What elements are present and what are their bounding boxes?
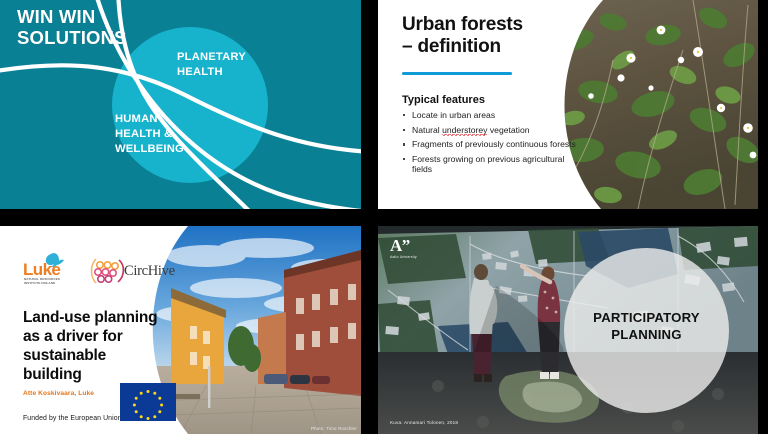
funding-statement: Funded by the European Union [23,415,122,422]
slide4-heading-line1: PARTICIPATORY [564,310,729,327]
circhive-logo: CircHive [88,256,183,286]
slide2-title: Urban forests – definition [402,14,582,59]
typical-features-list: Locate in urban areas Natural understore… [402,110,577,179]
slide3-author: Atte Koskivaara, Luke [23,390,94,397]
list-item: Natural understorey vegetation [402,125,577,135]
slide2-title-line2: – definition [402,36,582,58]
slide-win-win-solutions[interactable]: WIN WIN SOLUTIONS PLANETARY HEALTH HUMAN… [0,0,361,209]
luke-wordmark: Luke [23,261,60,278]
slide-urban-forests[interactable]: Urban forests – definition Typical featu… [378,0,758,209]
slide3-title-line2: as a driver for [23,328,183,347]
slide-land-use-planning[interactable]: Photo: Timo Roschier Luke NATURAL RESOUR… [0,226,361,434]
label-planetary-line1: PLANETARY [177,50,246,65]
label-planetary-health: PLANETARY HEALTH [177,50,246,80]
slide2-title-line1: Urban forests [402,14,582,36]
label-human-line3: WELLBEING [115,142,184,157]
eu-flag-icon [120,383,176,421]
label-human-line2: HEALTH & [115,127,184,142]
slide-grid: WIN WIN SOLUTIONS PLANETARY HEALTH HUMAN… [0,0,768,434]
photo-credit: Kuva: Annamari Tolonen, 2018 [390,420,458,425]
list-item: Forests growing on previous agricultural… [402,154,577,174]
slide1-title-line2: SOLUTIONS [17,27,127,48]
slide3-title-line3: sustainable [23,347,183,366]
aalto-university-logo: A” Aalto University [390,238,417,259]
typical-features-heading: Typical features [402,94,485,106]
circhive-wordmark: CircHive [124,264,175,279]
label-human-health-wellbeing: HUMAN HEALTH & WELLBEING [115,112,184,157]
list-item: Fragments of previously continuous fores… [402,139,577,149]
luke-subtitle: NATURAL RESOURCES INSTITUTE FINLAND [24,278,60,286]
slide3-title: Land-use planning as a driver for sustai… [23,309,183,385]
slide4-heading-line2: PLANNING [564,327,729,344]
slide3-title-line4: building [23,366,183,385]
spellcheck-word: understorey [442,125,487,136]
photo-credit: Photo: Timo Roschier [311,426,357,431]
slide-participatory-planning[interactable]: PARTICIPATORY PLANNING A” Aalto Universi… [378,226,758,434]
slide3-title-line1: Land-use planning [23,309,183,328]
aalto-subtitle: Aalto University [390,255,417,259]
slide1-title: WIN WIN SOLUTIONS [17,6,127,49]
luke-logo: Luke NATURAL RESOURCES INSTITUTE FINLAND [23,253,85,286]
aalto-wordmark: A” [390,238,417,254]
participatory-planning-heading: PARTICIPATORY PLANNING [564,310,729,344]
label-human-line1: HUMAN [115,112,184,127]
label-planetary-line2: HEALTH [177,65,246,80]
list-item: Locate in urban areas [402,110,577,120]
title-accent-rule [402,72,512,75]
slide1-title-line1: WIN WIN [17,6,127,27]
